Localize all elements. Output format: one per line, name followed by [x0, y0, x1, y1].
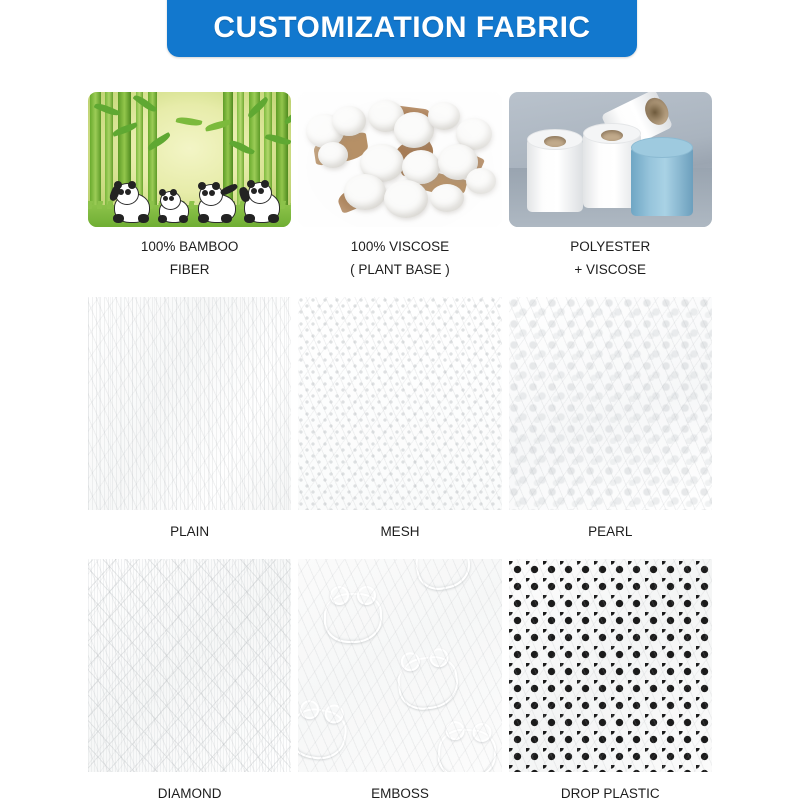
caption-line-2: ( PLANT BASE ) — [298, 258, 501, 281]
emboss-bear-shape — [298, 705, 350, 764]
fabric-roll — [527, 138, 583, 212]
cell-caption: DROP PLASTIC — [509, 772, 712, 805]
fabric-rolls-photo — [509, 92, 712, 227]
grid-cell-mesh[interactable]: MESH — [298, 297, 501, 543]
panda-figure — [240, 175, 282, 223]
panda-figure — [110, 175, 152, 223]
caption-line-1: DROP PLASTIC — [509, 782, 712, 805]
cell-caption: PLAIN — [88, 510, 291, 543]
emboss-bear-shape — [395, 653, 462, 713]
emboss-bear-shape — [437, 727, 498, 772]
caption-line-1: POLYESTER — [509, 235, 712, 258]
caption-line-2: + VISCOSE — [509, 258, 712, 281]
bamboo-panda-photo — [88, 92, 291, 227]
fabric-grid: 100% BAMBOO FIBER — [88, 92, 712, 805]
grid-row-textures-1: PLAIN MESH PEARL — [88, 297, 712, 543]
caption-line-1: EMBOSS — [298, 782, 501, 805]
grid-cell-plain[interactable]: PLAIN — [88, 297, 291, 543]
cotton-bolls-photo — [298, 92, 501, 227]
pearl-texture-swatch — [509, 297, 712, 510]
mesh-texture-swatch — [298, 297, 501, 510]
caption-line-1: PLAIN — [88, 520, 291, 543]
cell-caption: EMBOSS — [298, 772, 501, 805]
grid-row-materials: 100% BAMBOO FIBER — [88, 92, 712, 281]
panda-figure — [156, 185, 190, 223]
cell-caption: PEARL — [509, 510, 712, 543]
grid-cell-diamond[interactable]: DIAMOND — [88, 559, 291, 805]
cell-caption: 100% BAMBOO FIBER — [88, 227, 291, 281]
emboss-bear-shape — [324, 593, 382, 643]
caption-line-1: 100% BAMBOO — [88, 235, 291, 258]
grid-cell-viscose[interactable]: 100% VISCOSE ( PLANT BASE ) — [298, 92, 501, 281]
grid-cell-pearl[interactable]: PEARL — [509, 297, 712, 543]
plain-texture-swatch — [88, 297, 291, 510]
grid-cell-drop-plastic[interactable]: DROP PLASTIC — [509, 559, 712, 805]
caption-line-1: MESH — [298, 520, 501, 543]
grid-row-textures-2: DIAMOND EMBOSS DROP PLASTIC — [88, 559, 712, 805]
grid-cell-bamboo[interactable]: 100% BAMBOO FIBER — [88, 92, 291, 281]
caption-line-1: DIAMOND — [88, 782, 291, 805]
caption-line-1: 100% VISCOSE — [298, 235, 501, 258]
caption-line-2: FIBER — [88, 258, 291, 281]
emboss-bear-shape — [412, 559, 475, 594]
caption-line-1: PEARL — [509, 520, 712, 543]
page-title: CUSTOMIZATION FABRIC — [213, 13, 590, 57]
diamond-texture-swatch — [88, 559, 291, 772]
cell-caption: MESH — [298, 510, 501, 543]
grid-cell-polyester[interactable]: POLYESTER + VISCOSE — [509, 92, 712, 281]
cell-caption: POLYESTER + VISCOSE — [509, 227, 712, 281]
emboss-texture-swatch — [298, 559, 501, 772]
header-banner-area: CUSTOMIZATION FABRIC — [0, 0, 800, 60]
header-banner: CUSTOMIZATION FABRIC — [167, 0, 637, 57]
grid-cell-emboss[interactable]: EMBOSS — [298, 559, 501, 805]
drop-plastic-texture-swatch — [509, 559, 712, 772]
cell-caption: 100% VISCOSE ( PLANT BASE ) — [298, 227, 501, 281]
fabric-roll-blue — [631, 146, 693, 216]
cell-caption: DIAMOND — [88, 772, 291, 805]
panda-figure — [194, 177, 238, 223]
